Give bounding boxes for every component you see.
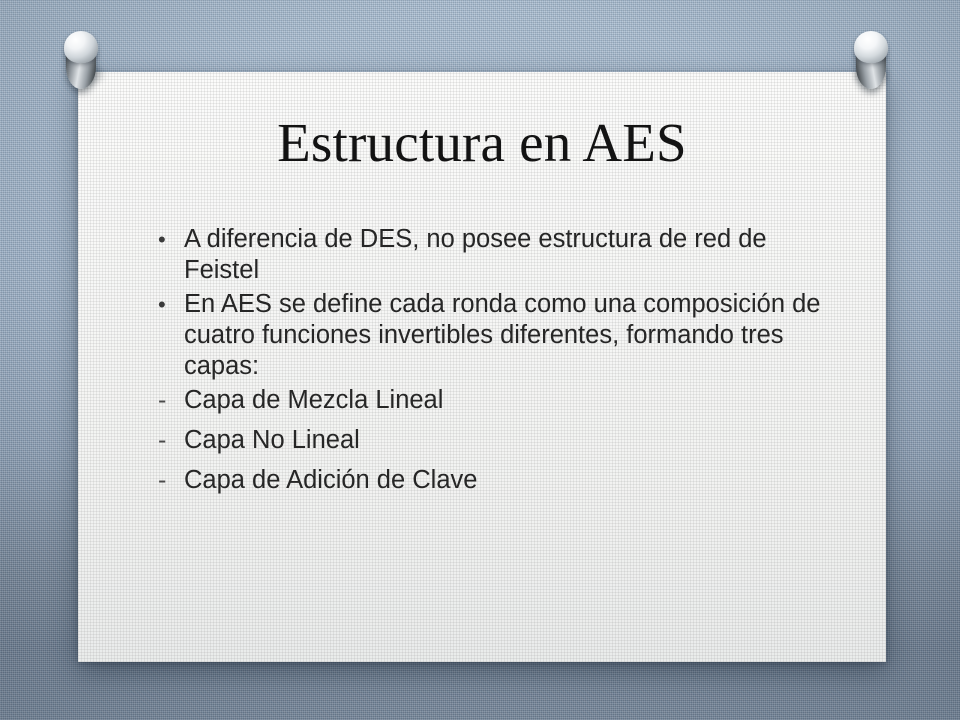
pushpin-icon (849, 29, 903, 95)
bullet-marker-icon: • (158, 224, 184, 255)
slide-content: Estructura en AES • A diferencia de DES,… (78, 72, 886, 662)
list-item: - Capa de Mezcla Lineal (158, 385, 844, 416)
paper-card: Estructura en AES • A diferencia de DES,… (78, 72, 886, 662)
pushpin-head (854, 31, 888, 63)
slide-canvas: Estructura en AES • A diferencia de DES,… (0, 0, 960, 720)
list-item-text: En AES se define cada ronda como una com… (184, 289, 844, 382)
pushpin-head (64, 31, 98, 63)
dash-marker-icon: - (158, 425, 184, 456)
list-item-text: Capa de Adición de Clave (184, 465, 844, 496)
slide-title: Estructura en AES (78, 114, 886, 172)
list-item: • En AES se define cada ronda como una c… (158, 289, 844, 382)
list-item: • A diferencia de DES, no posee estructu… (158, 224, 844, 286)
dash-marker-icon: - (158, 465, 184, 496)
list-item-text: Capa de Mezcla Lineal (184, 385, 844, 416)
list-item-text: A diferencia de DES, no posee estructura… (184, 224, 844, 286)
bullet-list: • A diferencia de DES, no posee estructu… (158, 224, 844, 505)
dash-marker-icon: - (158, 385, 184, 416)
list-item: - Capa No Lineal (158, 425, 844, 456)
list-item: - Capa de Adición de Clave (158, 465, 844, 496)
list-item-text: Capa No Lineal (184, 425, 844, 456)
bullet-marker-icon: • (158, 289, 184, 320)
pushpin-icon (59, 29, 113, 95)
